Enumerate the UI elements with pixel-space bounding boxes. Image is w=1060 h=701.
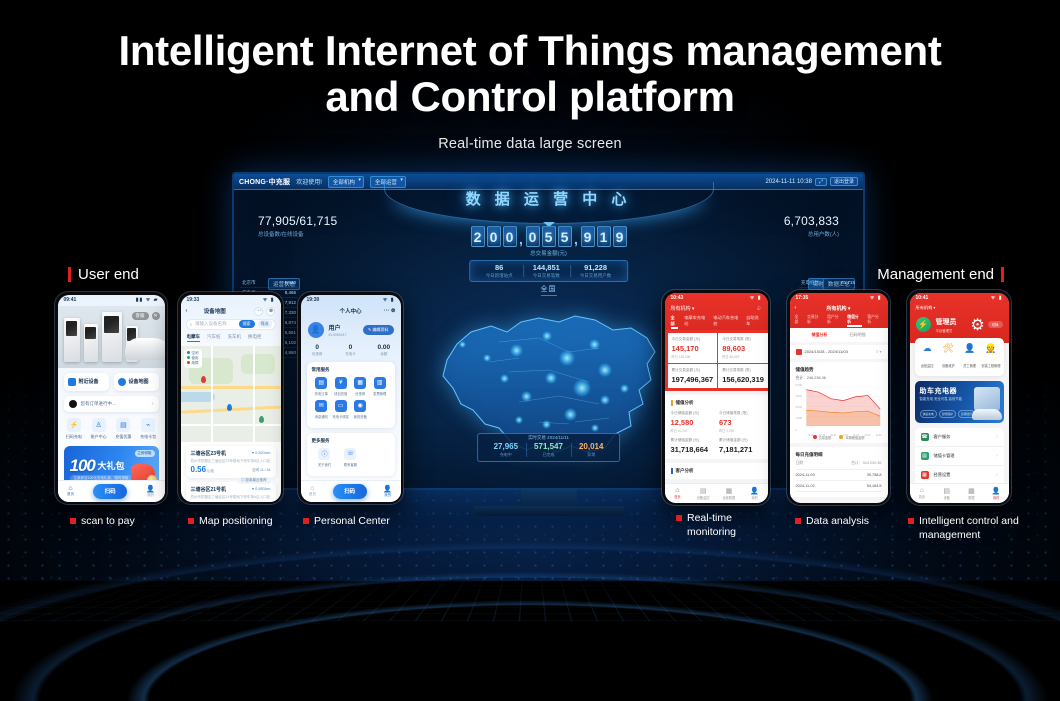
red-square-icon — [303, 518, 309, 524]
logout-button[interactable]: 退出登录 — [830, 177, 858, 186]
red-square-icon — [188, 518, 194, 524]
chevron-right-icon: › — [996, 434, 998, 440]
active-order-bar[interactable]: 您有订单进行中… › — [64, 396, 159, 412]
quick-action-label: 附近设备 — [79, 378, 99, 385]
tab-设备监控[interactable]: ▤设备监控 — [690, 484, 716, 503]
service-label: 联系客服 — [337, 462, 363, 467]
analysis-navbar: ‹ 所有机构 ▾ — [790, 304, 888, 315]
dashboard-bottom-strip: 实时交易 2024/11/11 27,965充电中571,547已完成20,01… — [477, 433, 621, 462]
row-value: 9,820 — [285, 280, 296, 286]
user-stat-value: 0 — [334, 344, 367, 351]
dashboard-timestamp: 2024-11-11 10:38 — [765, 179, 811, 185]
section-marker-icon — [671, 468, 673, 474]
red-square-icon — [676, 515, 682, 521]
map-road — [181, 424, 281, 426]
service-item[interactable]: ▤充值优惠 — [111, 418, 136, 440]
service-label: 我的设备 — [351, 414, 371, 419]
bell-icon[interactable]: ♤ — [756, 305, 761, 312]
stat-card: 累计储值金额 (元)31,718,664 — [671, 438, 714, 454]
map-hotspot — [459, 341, 466, 348]
station-address: 杭州市拱墅区三塘谷区23号楼地下停车场B区入口处 — [191, 459, 271, 464]
menu-icon: ▦ — [921, 471, 929, 479]
service-item[interactable]: ▥发票管理 — [370, 377, 390, 396]
phone-caption-text: Map positioning — [199, 515, 273, 529]
map-hotspot — [483, 354, 491, 362]
row-amount: 39,758.8 — [867, 473, 882, 477]
legend-dot-icon — [187, 361, 190, 364]
bottom-strip-stat: 571,547已完成 — [526, 442, 571, 458]
map-legend: 空闲使用故障 — [184, 349, 202, 369]
chart-xtick: 10-29 — [819, 434, 825, 437]
user-stat-label: 充电卡 — [334, 352, 367, 357]
more-icon[interactable]: ··· — [254, 307, 263, 316]
car-illustration — [125, 338, 165, 360]
map-pin[interactable] — [227, 404, 232, 411]
calendar-icon — [796, 349, 802, 355]
user-info: 用户 ID:0069417 — [329, 323, 347, 337]
counter-digit: 0 — [487, 226, 501, 247]
section-marker-icon — [671, 400, 673, 406]
service-icon: ¥ — [335, 377, 347, 389]
bottom-strip-label: 充电中 — [494, 452, 518, 458]
tab-运营数据[interactable]: ▦运营数据 — [716, 484, 742, 503]
tab-首页[interactable]: ⌂首页 — [910, 484, 935, 503]
quick-action[interactable]: 👷安装工程管理 — [980, 343, 1001, 372]
tab-profile[interactable]: 👤 我的 — [383, 485, 392, 498]
counter-label: 总交易金额(元) — [471, 249, 627, 257]
admin-name: 管理员 — [936, 317, 957, 327]
map-category-tabs: 电摩车汽车桩洗车机换电柜 — [181, 330, 281, 342]
station-availability: 空闲 11 / 16 — [252, 468, 270, 473]
back-icon[interactable]: ‹ — [795, 305, 797, 311]
tab-home-label: 首页 — [309, 492, 316, 496]
bottom-tabbar: ⌂首页▤设备▦数据👤我的 — [910, 483, 1009, 503]
row-value: 6,874 — [285, 320, 296, 326]
phone-caption: Personal Center — [303, 515, 390, 529]
quick-action-icon: 🛠 — [938, 343, 959, 354]
monitor-tab[interactable]: 自助洗车 — [746, 315, 761, 327]
row-value: 4,860 — [285, 350, 296, 356]
quick-action-label: 员工管理 — [963, 364, 976, 368]
bottom-strip-label: 已完成 — [534, 452, 563, 458]
status-bar: 19:33 ᯤ ▮ — [181, 295, 281, 306]
stat-card-value: 197,496,367 — [672, 375, 714, 384]
menu-icon: ☎ — [921, 433, 929, 441]
map-canvas[interactable]: 空闲使用故障 — [181, 346, 281, 442]
map-hotspot — [515, 416, 523, 424]
dashboard-total-counter: 200,055,919 总交易金额(元) — [471, 226, 627, 257]
charger-unit — [102, 312, 122, 362]
map-tab[interactable]: 电摩车 — [187, 334, 201, 342]
trend-chart-xticks: 10-2810-2910-3010-3111-0111-0211-03 — [808, 434, 882, 437]
close-icon[interactable]: ⊗ — [266, 307, 275, 316]
storage-analysis-title-text: 储值分析 — [676, 400, 694, 406]
stat-card-value: 89,603 — [722, 344, 764, 353]
red-square-icon — [908, 518, 914, 524]
tab-数据[interactable]: ▦数据 — [959, 484, 984, 503]
service-item[interactable]: ◉我的设备 — [351, 400, 371, 419]
active-order-text: 您有订单进行中… — [81, 401, 117, 407]
common-services-title: 常用服务 — [312, 367, 390, 373]
quick-action-card[interactable]: 设备地图 — [114, 373, 159, 391]
station-distance: ▾ 0.851km — [252, 486, 270, 491]
user-stats: 0优惠券0充电卡0.00余额 — [301, 338, 401, 362]
user-stat: 0.00余额 — [367, 344, 400, 357]
user-stat-label: 余额 — [367, 352, 400, 357]
service-icon: ♙ — [92, 418, 106, 432]
bottom-strip-value: 571,547 — [534, 442, 563, 451]
map-pin[interactable] — [259, 416, 264, 423]
row-value: 8,465 — [285, 290, 296, 296]
tab-label: 设备 — [943, 496, 949, 500]
service-item[interactable]: ✉消息通知 — [312, 400, 332, 419]
monitor-stand — [474, 506, 624, 516]
tab-icon: ▤ — [690, 487, 716, 495]
analysis-tab[interactable]: 储值分析 — [847, 315, 862, 325]
section-label-management-end-text: Management end — [877, 266, 994, 283]
bottom-strip-stat: 20,014异常 — [571, 442, 611, 458]
status-time: 09:41 — [64, 297, 77, 303]
promo-title: 大礼包 — [98, 459, 125, 472]
quick-actions: ☁运营监控🛠设备维护👤员工管理👷安装工程管理 — [915, 338, 1004, 376]
station-card[interactable]: ◎ 距离最近推荐三塘谷区21号机▾ 0.851km杭州市拱墅区三塘谷区21号楼地… — [186, 482, 276, 501]
more-services-card: 更多服务 ⓘ关于我们☏联系客服 — [307, 433, 395, 476]
map-tab[interactable]: 换电柜 — [248, 334, 262, 342]
station-badge: ◎ 距离最近推荐 — [237, 477, 270, 484]
tab-设备[interactable]: ▤设备 — [934, 484, 959, 503]
menu-label: 储值卡管理 — [934, 453, 955, 459]
user-name: 用户 — [329, 323, 347, 332]
analysis-tab[interactable]: 客户分析 — [867, 315, 882, 325]
map-hotspot — [600, 395, 610, 405]
status-icons: ᯤ ▮ — [870, 295, 882, 301]
org-selector[interactable]: 所有机构 ▾ — [910, 304, 1009, 315]
admin-user-row: ⚡ 管理员 平台管理员 ⚙ 切换 — [910, 315, 1009, 335]
stat-card-value: 156,620,319 — [722, 375, 764, 384]
date-range-value: 2024/10/28 - 2024/11/03 — [805, 349, 848, 354]
customer-analysis-section: 客户分析 — [665, 463, 768, 479]
counter-digit: 0 — [526, 226, 540, 247]
status-icons: ᯤ ▮ — [383, 297, 395, 303]
row-date: 2024-11-03 — [796, 473, 815, 477]
tab-label: 首页 — [919, 495, 925, 499]
tab-profile[interactable]: 👤 我的 — [146, 485, 155, 498]
tab-icon: ▦ — [959, 487, 984, 495]
product-banner[interactable]: 助车充电器 智能充电 安全可靠 高效节能 快速充电智能保护远程监控 — [915, 381, 1004, 423]
tab-profile-label: 我的 — [384, 493, 391, 497]
switch-button[interactable]: 切换 — [988, 321, 1003, 328]
map-hotspot — [591, 424, 599, 432]
scan-button[interactable]: 扫码 — [333, 484, 367, 499]
service-label: 发票管理 — [370, 391, 390, 396]
analysis-tab[interactable]: 交易分析 — [807, 315, 822, 325]
map-hotspot — [500, 374, 509, 383]
table-row: 2024-11-0339,758.8 — [796, 470, 882, 481]
row-value: 5,551 — [285, 330, 296, 336]
charger-unit — [84, 324, 98, 362]
trend-chart-total: 合计：246,236.36 — [796, 376, 882, 381]
page-subtitle: Real-time data large screen — [0, 136, 1060, 152]
status-time: 17:35 — [796, 295, 809, 301]
service-label: 账户中心 — [86, 434, 111, 440]
page-title-line1: Intelligent Internet of Things managemen… — [0, 28, 1060, 74]
trio-stat-value: 144,851 — [533, 263, 560, 272]
tab-icon: ▤ — [934, 487, 959, 495]
table-row: 2024-11-0254,164.5 — [796, 481, 882, 492]
table-header-row: 日期 合计：344,230.36 — [796, 458, 882, 470]
trend-chart-title: 储值趋势 — [796, 367, 882, 373]
stat-card: 累计交易笔数 (笔)156,620,319 — [718, 364, 767, 388]
tab-首页[interactable]: ⌂首页 — [665, 484, 691, 503]
tab-我的[interactable]: 👤我的 — [984, 484, 1009, 503]
counter-comma: , — [574, 231, 579, 247]
stat-card: 累计储值金额 (元)7,181,271 — [719, 438, 762, 454]
more-services-grid: ⓘ关于我们☏联系客服 — [312, 448, 390, 471]
more-services-title: 更多服务 — [312, 438, 390, 444]
legend-item: 故障 — [187, 361, 199, 366]
chart-xtick: 11-03 — [876, 434, 882, 437]
dashboard-left-stat: 77,905/61,715 总设备数/在线设备 — [258, 214, 337, 238]
map-hotspot — [620, 384, 629, 393]
station-card[interactable]: 三塘谷区23号机▾ 0.821km杭州市拱墅区三塘谷区23号楼地下停车场B区入口… — [186, 446, 276, 479]
service-item[interactable]: ♙账户中心 — [86, 418, 111, 440]
trio-stat: 91,228今日交易用户数 — [570, 263, 622, 279]
service-label: 关于我们 — [312, 462, 338, 467]
charger-unit — [64, 318, 80, 362]
section-label-user-end-text: User end — [78, 266, 139, 283]
org-selector[interactable]: 所有机构 ▾ ♤ — [665, 304, 768, 315]
analysis-subtab[interactable]: 储值分析 — [812, 332, 828, 338]
phone-caption-text: Data analysis — [806, 515, 869, 529]
analysis-tab[interactable]: 用户分析 — [827, 315, 842, 325]
monitor-stat-cards: 今日交易金额 (元)145,170昨日 148,006今日交易笔数 (笔)89,… — [665, 330, 768, 391]
status-icons: ᯤ ▮ — [750, 295, 762, 301]
red-square-icon — [795, 518, 801, 524]
user-id: ID:0069417 — [329, 333, 347, 337]
phone-caption-text: Intelligent control andmanagement — [919, 515, 1019, 542]
table-header-date: 日期 — [796, 461, 804, 466]
scan-button[interactable]: 扫码 — [93, 484, 127, 499]
map-hotspot — [542, 331, 552, 341]
map-road — [253, 346, 255, 442]
chart-xtick: 11-01 — [853, 434, 859, 437]
phone-data-analysis: 17:35 ᯤ ▮ ‹ 所有机构 ▾ 全部交易分析用户分析储值分析客户分析 储值… — [787, 290, 890, 505]
red-square-icon — [70, 518, 76, 524]
tab-label: 我的 — [751, 496, 757, 500]
chart-ytick: 4,500 — [796, 395, 807, 398]
dashboard-trio-stats: 86今日新增站点144,851今日交易笔数91,228今日交易用户数 — [469, 260, 629, 282]
status-bar: 10:41 ᯤ ▮ — [910, 293, 1009, 304]
personal-navbar: 个人中心 ··· ⊗ — [301, 306, 401, 319]
service-item[interactable]: ☏联系客服 — [337, 448, 363, 467]
chart-xtick: 10-30 — [830, 434, 836, 437]
map-nav-actions: ··· ⊗ — [254, 307, 275, 316]
service-item[interactable]: ⚡扫码充电 — [62, 418, 87, 440]
service-item[interactable]: ⓘ关于我们 — [312, 448, 338, 467]
red-bar-icon — [1001, 267, 1004, 282]
quick-action-card[interactable]: 附近设备 — [64, 373, 109, 391]
tab-icon: ⌂ — [910, 487, 935, 494]
tab-home[interactable]: ⌂ 首页 — [309, 485, 316, 497]
page-title-line2: and Control platform — [0, 74, 1060, 120]
map-road — [211, 346, 213, 442]
section-label-management-end: Management end — [877, 266, 1004, 283]
tab-home[interactable]: ⌂ 首页 — [67, 485, 74, 497]
gear-icon[interactable]: ⚙ — [970, 315, 984, 335]
dashboard-left-stat-label: 总设备数/在线设备 — [258, 230, 337, 238]
monitor-tab[interactable]: 电动汽车充电桩 — [713, 315, 740, 327]
tab-label: 设备监控 — [697, 496, 710, 500]
personal-nav-actions[interactable]: ··· ⊗ — [384, 308, 396, 314]
menu-row[interactable]: ☎客户服务› — [915, 428, 1004, 447]
management-header: 10:41 ᯤ ▮ 所有机构 ▾ ⚡ 管理员 平台管理员 ⚙ 切换 — [910, 293, 1009, 343]
monitor-header: 10:43 ᯤ ▮ 所有机构 ▾ ♤ 全部电摩车充电站电动汽车充电桩自助洗车 — [665, 293, 768, 330]
service-grid: ⚡扫码充电♙账户中心▤充值优惠⌁充电卡包 — [62, 418, 161, 440]
service-label: 充电订单 — [312, 391, 332, 396]
menu-row[interactable]: ▤储值卡管理› — [915, 447, 1004, 466]
phone-intelligent-management: 10:41 ᯤ ▮ 所有机构 ▾ ⚡ 管理员 平台管理员 ⚙ 切换 ☁运营监控🛠… — [907, 290, 1011, 505]
service-item[interactable]: ⌁充电卡包 — [136, 418, 161, 440]
status-icons: ᯤ ▮ — [991, 295, 1003, 301]
map-navbar: ‹ 设备地图 ··· ⊗ — [181, 306, 281, 319]
quick-action[interactable]: 🛠设备维护 — [938, 343, 959, 372]
admin-actions: ⚙ 切换 — [970, 315, 1002, 335]
map-water — [181, 392, 215, 402]
monitor-tab[interactable]: 电摩车充电站 — [684, 315, 707, 327]
counter-digit: 1 — [597, 226, 611, 247]
date-menu-icon[interactable]: ≡ ▾ — [876, 349, 881, 354]
counter-digit: 9 — [581, 226, 595, 247]
counter-digit: 5 — [558, 226, 572, 247]
map-hotspot — [510, 344, 523, 357]
stat-card-label: 今日储值金额 (元) — [671, 411, 714, 416]
charger-product-image — [974, 387, 1000, 411]
service-icon: ⌁ — [141, 418, 155, 432]
analysis-sub-tabs: 储值分析扫码明细 — [790, 328, 888, 342]
hero-header: Intelligent Internet of Things managemen… — [0, 28, 1060, 152]
service-icon: ✉ — [315, 400, 327, 412]
service-label: 消息通知 — [312, 414, 332, 419]
chart-ytick: 6,000 — [796, 384, 807, 387]
dashboard-org-select[interactable]: 全部机构 — [328, 176, 364, 188]
fullscreen-icon[interactable]: ⤢ — [815, 178, 827, 186]
counter-digits: 200,055,919 — [471, 226, 627, 247]
support-button[interactable]: 客服 — [132, 312, 149, 320]
dashboard-right-stat-label: 总用户数(人) — [784, 230, 839, 238]
stat-row: 今日储值金额 (元)12,580昨日 10,247今日储值笔数 (笔)673昨日… — [671, 411, 762, 433]
service-icon: ▤ — [116, 418, 130, 432]
status-bar: 10:43 ᯤ ▮ — [665, 293, 768, 304]
status-time: 10:43 — [671, 295, 684, 301]
bottom-tabbar: ⌂首页▤设备监控▦运营数据👤我的 — [665, 483, 768, 503]
phone-caption-text: Personal Center — [314, 515, 390, 529]
analysis-subtab[interactable]: 扫码明细 — [850, 332, 866, 338]
close-icon[interactable]: ✕ — [152, 312, 160, 320]
service-icon: ◉ — [354, 400, 366, 412]
date-range-picker[interactable]: 2024/10/28 - 2024/11/03 ≡ ▾ — [790, 345, 888, 359]
service-item[interactable]: ¥钱包充值 — [331, 377, 351, 396]
trend-chart-card: 储值趋势 合计：246,236.36 6,0004,5003,0001,5000… — [790, 362, 888, 443]
charging-stations-photo: 客服 ✕ — [58, 306, 165, 368]
user-header: 👤 用户 ID:0069417 ✎ 编辑资料 — [301, 319, 401, 338]
table-body: 2024-11-0339,758.82024-11-0254,164.5 — [796, 470, 882, 492]
service-item[interactable]: ▦优惠券 — [351, 377, 371, 396]
search-bar[interactable]: ⌕ 请输入设备名称 搜索 筛选 — [186, 319, 276, 330]
search-button[interactable]: 搜索 — [239, 320, 255, 328]
summary-row: 充电桩数61,715 — [799, 278, 857, 288]
quick-action-icon: ☁ — [917, 343, 938, 354]
tab-label: 我的 — [993, 496, 999, 500]
map-hotspot — [598, 363, 612, 377]
trio-stat-label: 今日交易用户数 — [580, 273, 612, 279]
service-label: 优惠券 — [351, 391, 371, 396]
edit-profile-button[interactable]: ✎ 编辑资料 — [363, 325, 393, 335]
tab-我的[interactable]: 👤我的 — [742, 484, 768, 503]
quick-action[interactable]: 👤员工管理 — [959, 343, 980, 372]
stat-card-label: 累计交易笔数 (笔) — [722, 368, 764, 373]
map-park — [241, 354, 275, 374]
filter-button[interactable]: 筛选 — [258, 320, 272, 328]
promo-cta[interactable]: 立即领取 — [135, 450, 155, 457]
chart-ytick: 3,000 — [796, 406, 807, 409]
order-icon — [69, 400, 77, 408]
stat-card: 累计交易金额 (元)197,496,367 — [668, 364, 718, 388]
common-services-card: 常用服务 ▤充电订单¥钱包充值▦优惠券▥发票管理✉消息通知▭充电卡绑定◉我的设备 — [307, 362, 395, 428]
counter-digit: 0 — [503, 226, 517, 247]
map-tab[interactable]: 汽车桩 — [207, 334, 221, 342]
station-address: 杭州市拱墅区三塘谷区21号楼地下停车场A区入口处 — [191, 495, 271, 500]
car-illustration — [972, 409, 1002, 420]
stat-card-label: 今日储值笔数 (笔) — [719, 411, 762, 416]
service-item[interactable]: ▭充电卡绑定 — [331, 400, 351, 419]
bottom-strip-label: 异常 — [579, 452, 603, 458]
hero-actions: 客服 ✕ — [132, 312, 160, 320]
map-tab[interactable]: 洗车机 — [228, 334, 242, 342]
back-icon[interactable]: ‹ — [186, 308, 188, 314]
phone-caption: Data analysis — [795, 515, 869, 529]
daily-detail-table: 每日充值明细 日期 合计：344,230.36 2024-11-0339,758… — [790, 447, 888, 497]
stat-card-value: 673 — [719, 418, 762, 427]
tab-label: 首页 — [674, 495, 680, 499]
stat-card: 今日交易金额 (元)145,170昨日 148,006 — [668, 333, 718, 363]
service-item[interactable]: ▤充电订单 — [312, 377, 332, 396]
map-hotspot — [564, 408, 577, 421]
quick-action-icon: 👤 — [959, 343, 980, 354]
counter-digit: 5 — [542, 226, 556, 247]
search-input[interactable]: 请输入设备名称 — [195, 321, 227, 327]
quick-action[interactable]: ☁运营监控 — [917, 343, 938, 372]
trend-chart-yticks: 6,0004,5003,0001,5000 — [796, 384, 807, 432]
ranking-row: 北京市9,820 — [240, 278, 298, 288]
user-icon: 👤 — [383, 485, 392, 493]
analysis-tab[interactable]: 全部 — [795, 315, 803, 325]
common-services-grid: ▤充电订单¥钱包充值▦优惠券▥发票管理✉消息通知▭充电卡绑定◉我的设备 — [312, 377, 390, 423]
dashboard-right-stat: 6,703,833 总用户数(人) — [784, 214, 839, 238]
quick-action-label: 设备地图 — [129, 378, 149, 385]
quick-action-label: 运营监控 — [921, 364, 934, 368]
analysis-nav-title[interactable]: 所有机构 ▾ — [827, 306, 851, 312]
bottom-strip-value: 20,014 — [579, 442, 603, 451]
stat-card: 今日交易笔数 (笔)89,603昨日 88,619 — [718, 333, 767, 363]
monitor-tab[interactable]: 全部 — [671, 315, 679, 327]
row-value: 61,715 — [841, 280, 855, 286]
stat-card-value: 12,580 — [671, 418, 714, 427]
chart-area-交易金额 — [806, 389, 880, 425]
counter-comma: , — [519, 231, 524, 247]
map-pin[interactable] — [201, 376, 206, 383]
stat-card-sub: 昨日 148,006 — [672, 354, 714, 359]
tab-icon: ⌂ — [665, 487, 691, 494]
